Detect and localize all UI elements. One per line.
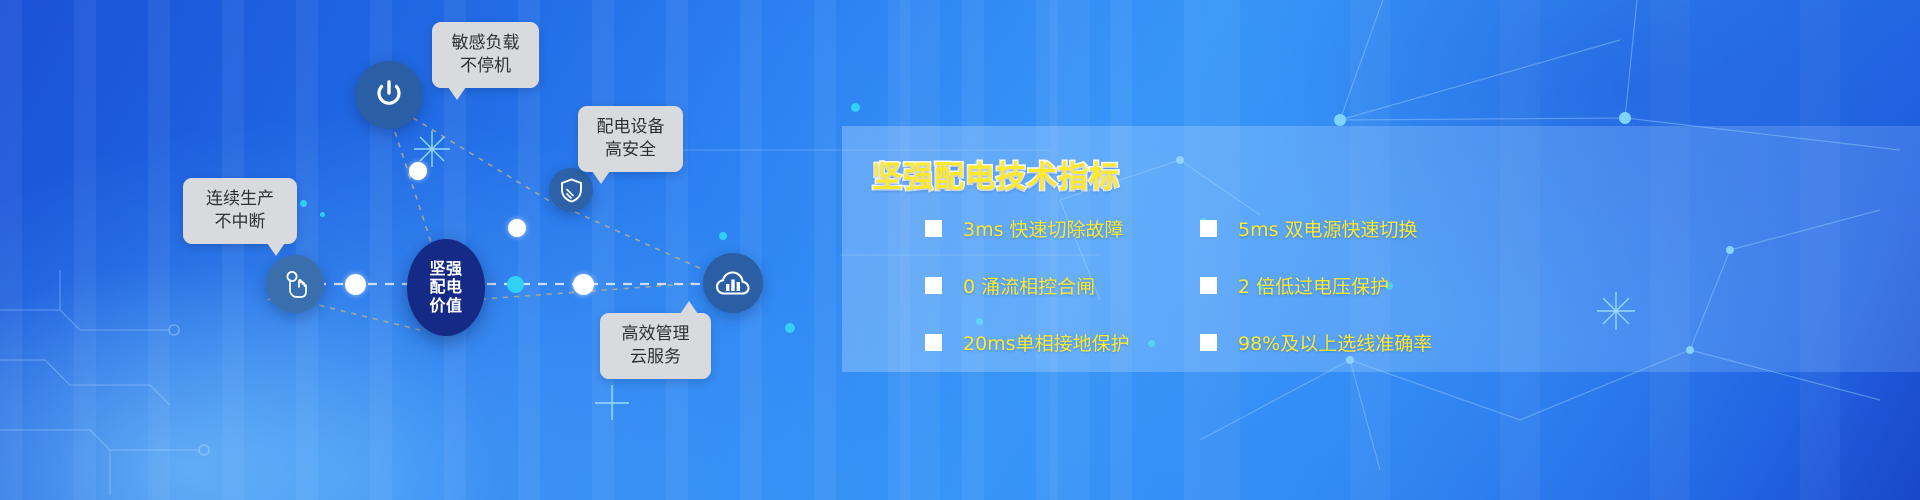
shield-icon [560,178,583,203]
callout-tail [592,171,610,184]
connector-dot-white-2 [573,274,594,295]
node-power[interactable] [355,61,423,129]
bullet-square-icon [925,220,942,237]
callout-distribution-safety[interactable]: 配电设备 高安全 [578,106,683,172]
bullet-square-icon [1200,334,1217,351]
bullet-square-icon [1200,220,1217,237]
bullet-square-icon [925,334,942,351]
callout-line-2: 不中断 [197,211,283,234]
callout-line-2: 高安全 [592,139,669,162]
hub-label-line-3: 价值 [429,297,462,315]
callout-cloud-management[interactable]: 高效管理 云服务 [600,313,711,379]
banner-root: 坚强 配电 价值 敏感负载 不停机 配电设备 高安全 连续生产 不中断 高效管理… [0,0,1920,500]
spec-item-label: 0 涌流相控合闸 [963,272,1095,299]
callout-line-1: 配电设备 [592,116,669,139]
spec-item-label: 2 倍低过电压保护 [1238,272,1389,299]
connector-dot-white-4 [409,162,427,180]
connector-dot-cyan-4 [851,103,860,112]
callout-sensitive-load[interactable]: 敏感负载 不停机 [432,22,539,88]
connector-dot-cyan-13 [320,212,325,217]
connector-dot-cyan-3 [785,323,795,333]
callout-line-2: 云服务 [614,346,697,369]
node-hand[interactable] [266,255,324,313]
node-shield[interactable] [549,168,593,212]
spec-item-label: 98%及以上选线准确率 [1238,329,1432,356]
spec-item-right-3[interactable]: 98%及以上选线准确率 [1200,329,1805,356]
spec-item-right-2[interactable]: 2 倍低过电压保护 [1200,272,1805,299]
spec-item-label: 5ms 双电源快速切换 [1238,215,1418,242]
bullet-square-icon [1200,277,1217,294]
callout-tail [680,301,698,314]
connector-dot-cyan-2 [719,232,727,240]
callout-line-1: 连续生产 [197,188,283,211]
spec-item-left-2[interactable]: 0 涌流相控合闸 [925,272,1200,299]
callout-continuous-production[interactable]: 连续生产 不中断 [183,178,297,244]
spec-list: 3ms 快速切除故障 5ms 双电源快速切换 0 涌流相控合闸 2 倍低过电压保… [925,208,1805,362]
connector-dot-white-3 [508,219,526,237]
callout-tail [448,87,466,100]
connector-dot-cyan-12 [300,200,307,207]
callout-tail [267,243,285,256]
callout-line-1: 高效管理 [614,323,697,346]
hub-label-line-1: 坚强 [429,260,462,278]
connector-dot-white-1 [345,274,366,295]
callout-line-1: 敏感负载 [446,32,525,55]
power-icon [372,78,406,112]
hub-label: 坚强 配电 价值 [429,260,462,315]
callout-line-2: 不停机 [446,55,525,78]
connector-dot-cyan-1 [507,276,524,293]
bullet-square-icon [925,277,942,294]
spec-item-label: 3ms 快速切除故障 [963,215,1124,242]
spec-item-label: 20ms单相接地保护 [963,329,1130,356]
hub-label-line-2: 配电 [429,278,462,296]
spec-item-right-1[interactable]: 5ms 双电源快速切换 [1200,215,1805,242]
spec-item-left-3[interactable]: 20ms单相接地保护 [925,329,1200,356]
spec-item-left-1[interactable]: 3ms 快速切除故障 [925,215,1200,242]
cloud-chart-icon [715,268,751,298]
hub-node[interactable]: 坚强 配电 价值 [407,239,485,336]
node-cloud[interactable] [703,253,763,313]
spec-panel-title: 坚强配电技术指标 [872,152,1120,196]
hand-touch-icon [279,268,311,300]
